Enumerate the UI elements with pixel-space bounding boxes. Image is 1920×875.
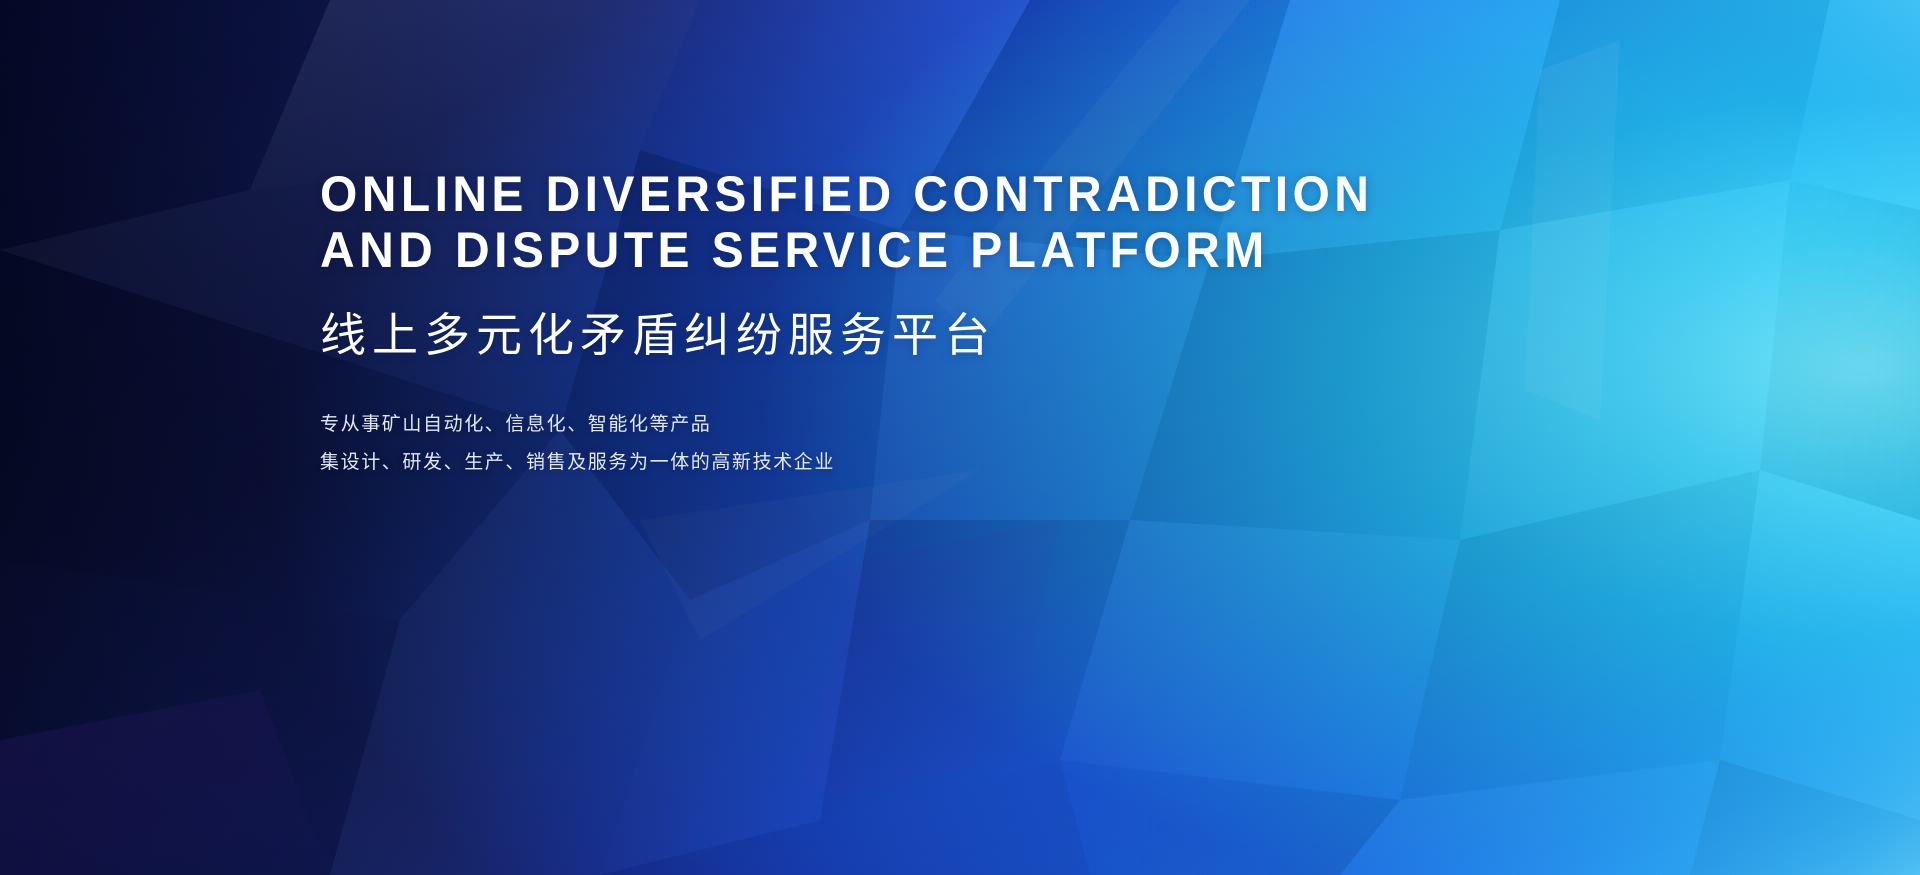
- subtitle-line-2: 集设计、研发、生产、销售及服务为一体的高新技术企业: [320, 450, 1417, 476]
- title-english-line-2: AND DISPUTE SERVICE PLATFORM: [320, 222, 1269, 278]
- page-title-chinese: 线上多元化矛盾纠纷服务平台: [320, 308, 1417, 362]
- hero-content: ONLINE DIVERSIFIED CONTRADICTIONAND DISP…: [320, 166, 1417, 476]
- page-title-english: ONLINE DIVERSIFIED CONTRADICTIONAND DISP…: [320, 166, 1373, 278]
- hero-subtitle: 专从事矿山自动化、信息化、智能化等产品 集设计、研发、生产、销售及服务为一体的高…: [320, 412, 1417, 476]
- title-english-line-1: ONLINE DIVERSIFIED CONTRADICTION: [320, 166, 1373, 222]
- subtitle-line-1: 专从事矿山自动化、信息化、智能化等产品: [320, 412, 1417, 438]
- hero-banner: ONLINE DIVERSIFIED CONTRADICTIONAND DISP…: [0, 0, 1920, 875]
